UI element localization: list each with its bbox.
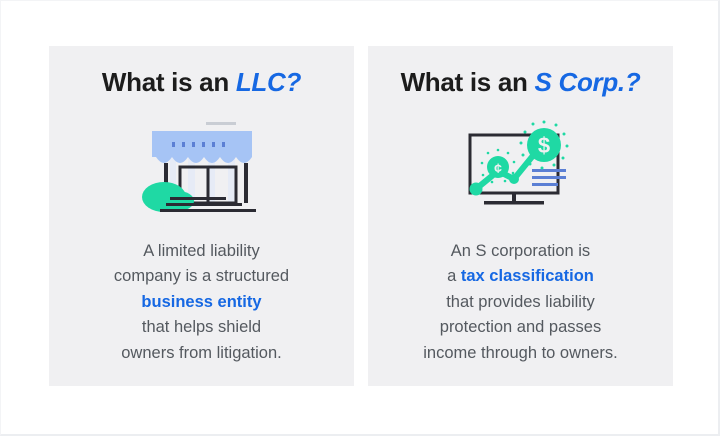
panel-s-corp-body: An S corporation is a tax classification… xyxy=(423,239,617,367)
panel-llc-title-lead: What is an xyxy=(102,67,236,97)
panel-llc: What is an LLC? xyxy=(49,46,354,386)
infographic-canvas: What is an LLC? xyxy=(0,0,720,436)
panel-s-corp-body-line1: An S corporation is xyxy=(451,242,590,260)
panel-s-corp-body-lead-word: a xyxy=(447,267,461,285)
panel-llc-body: A limited liability company is a structu… xyxy=(114,239,289,367)
panel-llc-title-accent: LLC? xyxy=(236,67,301,97)
panel-s-corp-body-line3: protection and passes xyxy=(440,318,601,336)
svg-text:¢: ¢ xyxy=(494,160,502,176)
panel-llc-body-line2: company is a structured xyxy=(114,267,289,285)
panel-llc-title: What is an LLC? xyxy=(102,68,301,97)
panel-s-corp-body-line4: income through to owners. xyxy=(423,344,617,362)
panel-llc-body-line3: that helps shield xyxy=(142,318,261,336)
panel-s-corp-body-line2: that provides liability xyxy=(446,293,595,311)
svg-text:$: $ xyxy=(537,133,549,158)
storefront-illustration xyxy=(132,119,272,215)
monitor-growth-chart-illustration: ¢ $ xyxy=(456,119,586,215)
panel-llc-body-line1: A limited liability xyxy=(143,242,259,260)
panel-llc-body-highlight: business entity xyxy=(141,293,261,311)
panel-s-corp-body-highlight: tax classification xyxy=(461,267,594,285)
panel-s-corp: What is an S Corp.? xyxy=(368,46,673,386)
panel-row: What is an LLC? xyxy=(49,46,673,386)
panel-s-corp-title-accent: S Corp.? xyxy=(535,67,641,97)
panel-llc-body-line4: owners from litigation. xyxy=(121,344,281,362)
panel-s-corp-title-lead: What is an xyxy=(401,67,535,97)
panel-s-corp-title: What is an S Corp.? xyxy=(401,68,641,97)
